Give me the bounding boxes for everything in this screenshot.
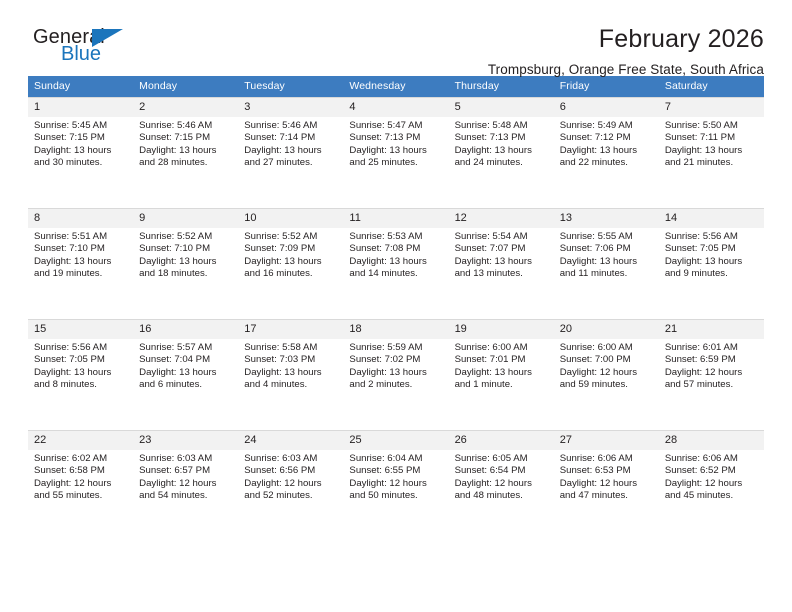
sunrise-text: Sunrise: 5:46 AM — [244, 120, 339, 132]
sunrise-text: Sunrise: 5:47 AM — [349, 120, 444, 132]
calendar-day-cell[interactable]: 15Sunrise: 5:56 AMSunset: 7:05 PMDayligh… — [28, 320, 133, 431]
calendar-day-cell[interactable]: 17Sunrise: 5:58 AMSunset: 7:03 PMDayligh… — [238, 320, 343, 431]
sunset-text: Sunset: 6:58 PM — [34, 465, 129, 477]
day-details: Sunrise: 6:03 AMSunset: 6:57 PMDaylight:… — [133, 450, 238, 502]
day-number: 1 — [28, 98, 133, 117]
day-details: Sunrise: 5:57 AMSunset: 7:04 PMDaylight:… — [133, 339, 238, 391]
day-details: Sunrise: 5:53 AMSunset: 7:08 PMDaylight:… — [343, 228, 448, 280]
day-details: Sunrise: 5:46 AMSunset: 7:15 PMDaylight:… — [133, 117, 238, 169]
day-details: Sunrise: 6:03 AMSunset: 6:56 PMDaylight:… — [238, 450, 343, 502]
sunrise-text: Sunrise: 5:52 AM — [139, 231, 234, 243]
day-details: Sunrise: 5:58 AMSunset: 7:03 PMDaylight:… — [238, 339, 343, 391]
sunset-text: Sunset: 7:10 PM — [139, 243, 234, 255]
day-number: 3 — [238, 98, 343, 117]
sunrise-text: Sunrise: 6:04 AM — [349, 453, 444, 465]
daylight-text: Daylight: 13 hours and 8 minutes. — [34, 367, 129, 392]
sunrise-text: Sunrise: 5:49 AM — [560, 120, 655, 132]
daylight-text: Daylight: 12 hours and 54 minutes. — [139, 478, 234, 503]
daylight-text: Daylight: 13 hours and 24 minutes. — [455, 145, 550, 170]
page-header: General Blue February 2026 Trompsburg, O… — [28, 0, 764, 72]
day-details: Sunrise: 5:46 AMSunset: 7:14 PMDaylight:… — [238, 117, 343, 169]
sunset-text: Sunset: 6:55 PM — [349, 465, 444, 477]
calendar-day-cell[interactable]: 24Sunrise: 6:03 AMSunset: 6:56 PMDayligh… — [238, 431, 343, 542]
calendar-body: 1Sunrise: 5:45 AMSunset: 7:15 PMDaylight… — [28, 98, 764, 542]
sunset-text: Sunset: 6:52 PM — [665, 465, 760, 477]
sunset-text: Sunset: 6:53 PM — [560, 465, 655, 477]
sunrise-text: Sunrise: 5:45 AM — [34, 120, 129, 132]
daylight-text: Daylight: 12 hours and 45 minutes. — [665, 478, 760, 503]
sunrise-text: Sunrise: 5:54 AM — [455, 231, 550, 243]
calendar-day-cell[interactable]: 1Sunrise: 5:45 AMSunset: 7:15 PMDaylight… — [28, 98, 133, 209]
sunrise-text: Sunrise: 6:05 AM — [455, 453, 550, 465]
sunset-text: Sunset: 7:02 PM — [349, 354, 444, 366]
day-number: 15 — [28, 320, 133, 339]
calendar-day-cell[interactable]: 7Sunrise: 5:50 AMSunset: 7:11 PMDaylight… — [659, 98, 764, 209]
calendar-day-cell[interactable]: 20Sunrise: 6:00 AMSunset: 7:00 PMDayligh… — [554, 320, 659, 431]
sunset-text: Sunset: 7:09 PM — [244, 243, 339, 255]
sunset-text: Sunset: 6:57 PM — [139, 465, 234, 477]
day-details: Sunrise: 5:47 AMSunset: 7:13 PMDaylight:… — [343, 117, 448, 169]
day-details: Sunrise: 6:02 AMSunset: 6:58 PMDaylight:… — [28, 450, 133, 502]
calendar-page: General Blue February 2026 Trompsburg, O… — [0, 0, 792, 612]
day-details: Sunrise: 6:01 AMSunset: 6:59 PMDaylight:… — [659, 339, 764, 391]
sunrise-text: Sunrise: 5:59 AM — [349, 342, 444, 354]
day-details: Sunrise: 5:59 AMSunset: 7:02 PMDaylight:… — [343, 339, 448, 391]
day-number: 18 — [343, 320, 448, 339]
sunrise-text: Sunrise: 5:58 AM — [244, 342, 339, 354]
sunrise-text: Sunrise: 6:00 AM — [455, 342, 550, 354]
weekday-header-saturday: Saturday — [659, 76, 764, 98]
calendar-day-cell[interactable]: 4Sunrise: 5:47 AMSunset: 7:13 PMDaylight… — [343, 98, 448, 209]
day-number: 25 — [343, 431, 448, 450]
day-details: Sunrise: 5:54 AMSunset: 7:07 PMDaylight:… — [449, 228, 554, 280]
sunrise-text: Sunrise: 5:56 AM — [665, 231, 760, 243]
weekday-header-sunday: Sunday — [28, 76, 133, 98]
day-number: 16 — [133, 320, 238, 339]
sunrise-text: Sunrise: 6:06 AM — [560, 453, 655, 465]
daylight-text: Daylight: 13 hours and 21 minutes. — [665, 145, 760, 170]
day-details: Sunrise: 5:56 AMSunset: 7:05 PMDaylight:… — [659, 228, 764, 280]
calendar-header-row: Sunday Monday Tuesday Wednesday Thursday… — [28, 76, 764, 98]
daylight-text: Daylight: 13 hours and 16 minutes. — [244, 256, 339, 281]
day-details: Sunrise: 5:50 AMSunset: 7:11 PMDaylight:… — [659, 117, 764, 169]
sunrise-text: Sunrise: 6:03 AM — [139, 453, 234, 465]
sunset-text: Sunset: 6:56 PM — [244, 465, 339, 477]
daylight-text: Daylight: 12 hours and 52 minutes. — [244, 478, 339, 503]
calendar-day-cell[interactable]: 5Sunrise: 5:48 AMSunset: 7:13 PMDaylight… — [449, 98, 554, 209]
calendar-day-cell[interactable]: 28Sunrise: 6:06 AMSunset: 6:52 PMDayligh… — [659, 431, 764, 542]
calendar-day-cell[interactable]: 23Sunrise: 6:03 AMSunset: 6:57 PMDayligh… — [133, 431, 238, 542]
sunset-text: Sunset: 7:15 PM — [34, 132, 129, 144]
day-number: 10 — [238, 209, 343, 228]
daylight-text: Daylight: 13 hours and 28 minutes. — [139, 145, 234, 170]
daylight-text: Daylight: 12 hours and 47 minutes. — [560, 478, 655, 503]
day-number: 17 — [238, 320, 343, 339]
day-number: 19 — [449, 320, 554, 339]
day-number: 2 — [133, 98, 238, 117]
calendar-day-cell[interactable]: 18Sunrise: 5:59 AMSunset: 7:02 PMDayligh… — [343, 320, 448, 431]
calendar-week-row: 1Sunrise: 5:45 AMSunset: 7:15 PMDaylight… — [28, 98, 764, 209]
calendar-day-cell[interactable]: 6Sunrise: 5:49 AMSunset: 7:12 PMDaylight… — [554, 98, 659, 209]
calendar-day-cell[interactable]: 11Sunrise: 5:53 AMSunset: 7:08 PMDayligh… — [343, 209, 448, 320]
day-details: Sunrise: 5:56 AMSunset: 7:05 PMDaylight:… — [28, 339, 133, 391]
calendar-day-cell[interactable]: 16Sunrise: 5:57 AMSunset: 7:04 PMDayligh… — [133, 320, 238, 431]
sunset-text: Sunset: 7:00 PM — [560, 354, 655, 366]
calendar-day-cell[interactable]: 21Sunrise: 6:01 AMSunset: 6:59 PMDayligh… — [659, 320, 764, 431]
sunrise-text: Sunrise: 5:51 AM — [34, 231, 129, 243]
day-number: 27 — [554, 431, 659, 450]
daylight-text: Daylight: 13 hours and 22 minutes. — [560, 145, 655, 170]
day-number: 26 — [449, 431, 554, 450]
weekday-header-tuesday: Tuesday — [238, 76, 343, 98]
sunset-text: Sunset: 7:04 PM — [139, 354, 234, 366]
calendar-day-cell[interactable]: 27Sunrise: 6:06 AMSunset: 6:53 PMDayligh… — [554, 431, 659, 542]
day-details: Sunrise: 5:52 AMSunset: 7:10 PMDaylight:… — [133, 228, 238, 280]
sunset-text: Sunset: 7:03 PM — [244, 354, 339, 366]
sunset-text: Sunset: 7:13 PM — [349, 132, 444, 144]
day-number: 9 — [133, 209, 238, 228]
daylight-text: Daylight: 13 hours and 25 minutes. — [349, 145, 444, 170]
sunset-text: Sunset: 7:13 PM — [455, 132, 550, 144]
day-details: Sunrise: 6:05 AMSunset: 6:54 PMDaylight:… — [449, 450, 554, 502]
day-number: 14 — [659, 209, 764, 228]
day-details: Sunrise: 6:04 AMSunset: 6:55 PMDaylight:… — [343, 450, 448, 502]
day-number: 11 — [343, 209, 448, 228]
calendar-day-cell[interactable]: 14Sunrise: 5:56 AMSunset: 7:05 PMDayligh… — [659, 209, 764, 320]
day-details: Sunrise: 6:00 AMSunset: 7:01 PMDaylight:… — [449, 339, 554, 391]
day-number: 24 — [238, 431, 343, 450]
day-number: 5 — [449, 98, 554, 117]
calendar-day-cell[interactable]: 22Sunrise: 6:02 AMSunset: 6:58 PMDayligh… — [28, 431, 133, 542]
day-details: Sunrise: 5:55 AMSunset: 7:06 PMDaylight:… — [554, 228, 659, 280]
sunset-text: Sunset: 7:12 PM — [560, 132, 655, 144]
title-block: February 2026 Trompsburg, Orange Free St… — [158, 26, 764, 77]
daylight-text: Daylight: 13 hours and 2 minutes. — [349, 367, 444, 392]
calendar-day-cell[interactable]: 19Sunrise: 6:00 AMSunset: 7:01 PMDayligh… — [449, 320, 554, 431]
sunrise-text: Sunrise: 6:03 AM — [244, 453, 339, 465]
daylight-text: Daylight: 13 hours and 11 minutes. — [560, 256, 655, 281]
day-number: 28 — [659, 431, 764, 450]
day-number: 20 — [554, 320, 659, 339]
day-number: 23 — [133, 431, 238, 450]
page-subtitle: Trompsburg, Orange Free State, South Afr… — [158, 62, 764, 77]
sunset-text: Sunset: 7:07 PM — [455, 243, 550, 255]
daylight-text: Daylight: 13 hours and 30 minutes. — [34, 145, 129, 170]
sunset-text: Sunset: 7:05 PM — [665, 243, 760, 255]
sunrise-text: Sunrise: 5:53 AM — [349, 231, 444, 243]
calendar-week-row: 8Sunrise: 5:51 AMSunset: 7:10 PMDaylight… — [28, 209, 764, 320]
daylight-text: Daylight: 13 hours and 19 minutes. — [34, 256, 129, 281]
daylight-text: Daylight: 12 hours and 57 minutes. — [665, 367, 760, 392]
calendar-day-cell[interactable]: 26Sunrise: 6:05 AMSunset: 6:54 PMDayligh… — [449, 431, 554, 542]
calendar-day-cell[interactable]: 2Sunrise: 5:46 AMSunset: 7:15 PMDaylight… — [133, 98, 238, 209]
day-number: 21 — [659, 320, 764, 339]
sunset-text: Sunset: 7:14 PM — [244, 132, 339, 144]
day-number: 7 — [659, 98, 764, 117]
daylight-text: Daylight: 13 hours and 1 minute. — [455, 367, 550, 392]
day-details: Sunrise: 5:48 AMSunset: 7:13 PMDaylight:… — [449, 117, 554, 169]
day-details: Sunrise: 5:49 AMSunset: 7:12 PMDaylight:… — [554, 117, 659, 169]
calendar-day-cell[interactable]: 3Sunrise: 5:46 AMSunset: 7:14 PMDaylight… — [238, 98, 343, 209]
calendar-day-cell[interactable]: 13Sunrise: 5:55 AMSunset: 7:06 PMDayligh… — [554, 209, 659, 320]
daylight-text: Daylight: 13 hours and 4 minutes. — [244, 367, 339, 392]
general-blue-logo[interactable]: General Blue — [28, 26, 158, 72]
day-details: Sunrise: 6:00 AMSunset: 7:00 PMDaylight:… — [554, 339, 659, 391]
day-details: Sunrise: 5:45 AMSunset: 7:15 PMDaylight:… — [28, 117, 133, 169]
calendar-day-cell[interactable]: 9Sunrise: 5:52 AMSunset: 7:10 PMDaylight… — [133, 209, 238, 320]
sunrise-text: Sunrise: 5:46 AM — [139, 120, 234, 132]
sunrise-text: Sunrise: 5:52 AM — [244, 231, 339, 243]
daylight-text: Daylight: 12 hours and 59 minutes. — [560, 367, 655, 392]
sunrise-text: Sunrise: 6:00 AM — [560, 342, 655, 354]
logo-text-blue: Blue — [61, 43, 101, 66]
calendar-day-cell[interactable]: 25Sunrise: 6:04 AMSunset: 6:55 PMDayligh… — [343, 431, 448, 542]
day-details: Sunrise: 5:51 AMSunset: 7:10 PMDaylight:… — [28, 228, 133, 280]
sunrise-sunset-calendar: Sunday Monday Tuesday Wednesday Thursday… — [28, 76, 764, 541]
sunrise-text: Sunrise: 6:02 AM — [34, 453, 129, 465]
sunset-text: Sunset: 7:05 PM — [34, 354, 129, 366]
page-title: February 2026 — [158, 26, 764, 54]
daylight-text: Daylight: 13 hours and 18 minutes. — [139, 256, 234, 281]
day-number: 4 — [343, 98, 448, 117]
sunset-text: Sunset: 7:06 PM — [560, 243, 655, 255]
calendar-day-cell[interactable]: 10Sunrise: 5:52 AMSunset: 7:09 PMDayligh… — [238, 209, 343, 320]
sunrise-text: Sunrise: 5:57 AM — [139, 342, 234, 354]
calendar-week-row: 22Sunrise: 6:02 AMSunset: 6:58 PMDayligh… — [28, 431, 764, 542]
daylight-text: Daylight: 13 hours and 13 minutes. — [455, 256, 550, 281]
sunset-text: Sunset: 7:10 PM — [34, 243, 129, 255]
weekday-header-wednesday: Wednesday — [343, 76, 448, 98]
daylight-text: Daylight: 12 hours and 55 minutes. — [34, 478, 129, 503]
day-number: 13 — [554, 209, 659, 228]
sunrise-text: Sunrise: 5:56 AM — [34, 342, 129, 354]
daylight-text: Daylight: 12 hours and 50 minutes. — [349, 478, 444, 503]
sunrise-text: Sunrise: 5:55 AM — [560, 231, 655, 243]
sunrise-text: Sunrise: 6:01 AM — [665, 342, 760, 354]
sunrise-text: Sunrise: 6:06 AM — [665, 453, 760, 465]
day-details: Sunrise: 6:06 AMSunset: 6:52 PMDaylight:… — [659, 450, 764, 502]
daylight-text: Daylight: 13 hours and 6 minutes. — [139, 367, 234, 392]
sunset-text: Sunset: 6:54 PM — [455, 465, 550, 477]
weekday-header-monday: Monday — [133, 76, 238, 98]
daylight-text: Daylight: 13 hours and 9 minutes. — [665, 256, 760, 281]
day-number: 22 — [28, 431, 133, 450]
sunset-text: Sunset: 7:01 PM — [455, 354, 550, 366]
daylight-text: Daylight: 13 hours and 27 minutes. — [244, 145, 339, 170]
sunrise-text: Sunrise: 5:48 AM — [455, 120, 550, 132]
day-details: Sunrise: 5:52 AMSunset: 7:09 PMDaylight:… — [238, 228, 343, 280]
calendar-day-cell[interactable]: 12Sunrise: 5:54 AMSunset: 7:07 PMDayligh… — [449, 209, 554, 320]
daylight-text: Daylight: 13 hours and 14 minutes. — [349, 256, 444, 281]
calendar-week-row: 15Sunrise: 5:56 AMSunset: 7:05 PMDayligh… — [28, 320, 764, 431]
day-number: 12 — [449, 209, 554, 228]
sunset-text: Sunset: 6:59 PM — [665, 354, 760, 366]
sunset-text: Sunset: 7:15 PM — [139, 132, 234, 144]
day-number: 8 — [28, 209, 133, 228]
daylight-text: Daylight: 12 hours and 48 minutes. — [455, 478, 550, 503]
weekday-header-thursday: Thursday — [449, 76, 554, 98]
sunset-text: Sunset: 7:08 PM — [349, 243, 444, 255]
sunset-text: Sunset: 7:11 PM — [665, 132, 760, 144]
sunrise-text: Sunrise: 5:50 AM — [665, 120, 760, 132]
weekday-header-friday: Friday — [554, 76, 659, 98]
day-details: Sunrise: 6:06 AMSunset: 6:53 PMDaylight:… — [554, 450, 659, 502]
calendar-day-cell[interactable]: 8Sunrise: 5:51 AMSunset: 7:10 PMDaylight… — [28, 209, 133, 320]
day-number: 6 — [554, 98, 659, 117]
